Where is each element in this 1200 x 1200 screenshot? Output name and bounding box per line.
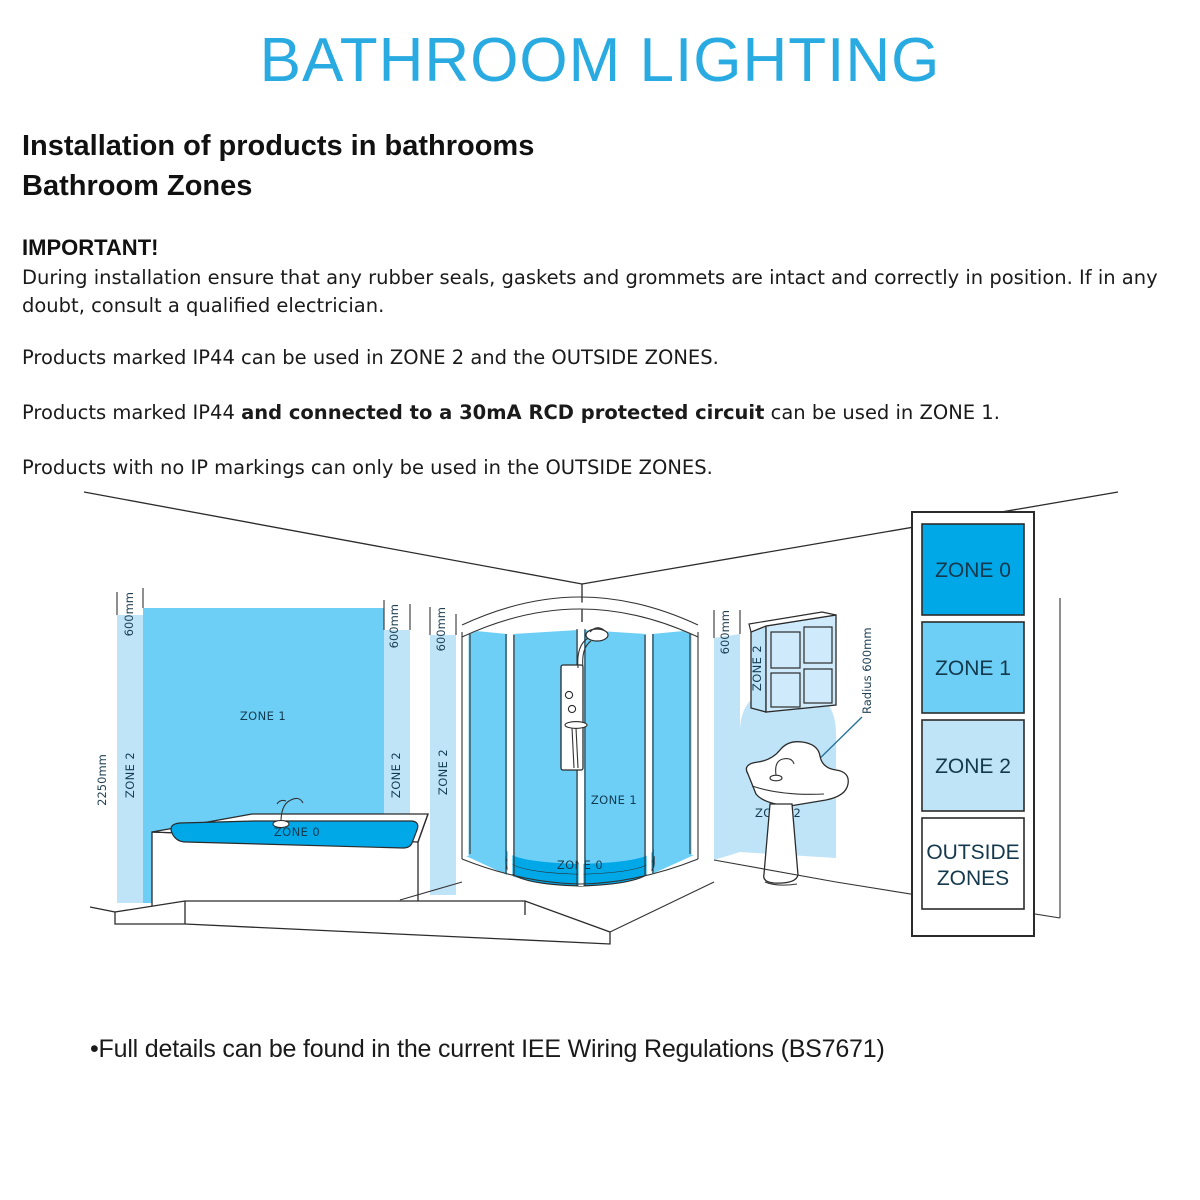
legend-label-zone-1: ZONE 1: [935, 657, 1011, 680]
legend-label-outside-zones-line2: ZONES: [937, 867, 1009, 890]
shower-zone1-fill-c: [584, 630, 646, 886]
page-title: BATHROOM LIGHTING: [0, 28, 1200, 93]
bath-zone1-label: ZONE 1: [240, 709, 286, 723]
bath-zone2-left-label: ZONE 2: [123, 752, 137, 798]
legend-item-outside-zones[interactable]: OUTSIDE ZONES: [922, 818, 1024, 909]
ip44-zone2-paragraph: Products marked IP44 can be used in ZONE…: [22, 344, 1187, 372]
ip44-rcd-prefix: Products marked IP44: [22, 401, 241, 424]
ip44-rcd-bold: and connected to a 30mA RCD protected ci…: [241, 401, 764, 424]
ip44-rcd-suffix: can be used in ZONE 1.: [764, 401, 1000, 424]
shower-zone2-label: ZONE 2: [436, 749, 450, 795]
basin-zone2-wall-strip: [714, 634, 740, 860]
important-paragraph: During installation ensure that any rubb…: [22, 264, 1187, 319]
legend-item-zone-1[interactable]: ZONE 1: [922, 622, 1024, 713]
subtitle-line-2: Bathroom Zones: [22, 166, 922, 206]
bathroom-zones-diagram: 2250mm 600mm 600mm ZONE 1 ZONE 2 ZONE 2 …: [0, 482, 1200, 1022]
window-zone2-label: ZONE 2: [750, 645, 764, 691]
window: ZONE 2: [749, 612, 836, 712]
bath-zone2-right-label: ZONE 2: [389, 752, 403, 798]
legend-item-zone-0[interactable]: ZONE 0: [922, 524, 1024, 615]
zone-legend-panel[interactable]: ZONE 0 ZONE 1 ZONE 2 OUTSIDE ZONES: [912, 512, 1034, 936]
important-label: IMPORTANT!: [22, 235, 158, 261]
shower-zone1-fill-d: [652, 630, 694, 874]
shower-enclosure: ZONE 0 ZONE 1: [462, 597, 698, 886]
legend-label-zone-2: ZONE 2: [935, 755, 1011, 778]
bath-dim-600mm-left: 600mm: [122, 592, 136, 636]
subtitle-block: Installation of products in bathrooms Ba…: [22, 126, 922, 206]
legend-label-zone-0: ZONE 0: [935, 559, 1011, 582]
shower-dim-600mm: 600mm: [434, 607, 448, 651]
basin-dim-600mm: 600mm: [718, 610, 732, 654]
bath-dim-2250mm: 2250mm: [95, 754, 109, 806]
no-ip-paragraph: Products with no IP markings can only be…: [22, 454, 1187, 482]
legend-item-zone-2[interactable]: ZONE 2: [922, 720, 1024, 811]
bath-dim-600mm-right: 600mm: [387, 604, 401, 648]
footnote-text: •Full details can be found in the curren…: [90, 1035, 1110, 1064]
ip44-rcd-paragraph: Products marked IP44 and connected to a …: [22, 399, 1187, 427]
subtitle-line-1: Installation of products in bathrooms: [22, 126, 922, 166]
legend-label-outside-zones-line1: OUTSIDE: [926, 841, 1019, 864]
basin-radius-label: Radius 600mm: [860, 627, 874, 714]
bath-floor-step: [90, 901, 610, 944]
shower-zone1-label: ZONE 1: [591, 793, 637, 807]
shower-zone1-fill: [466, 630, 507, 875]
